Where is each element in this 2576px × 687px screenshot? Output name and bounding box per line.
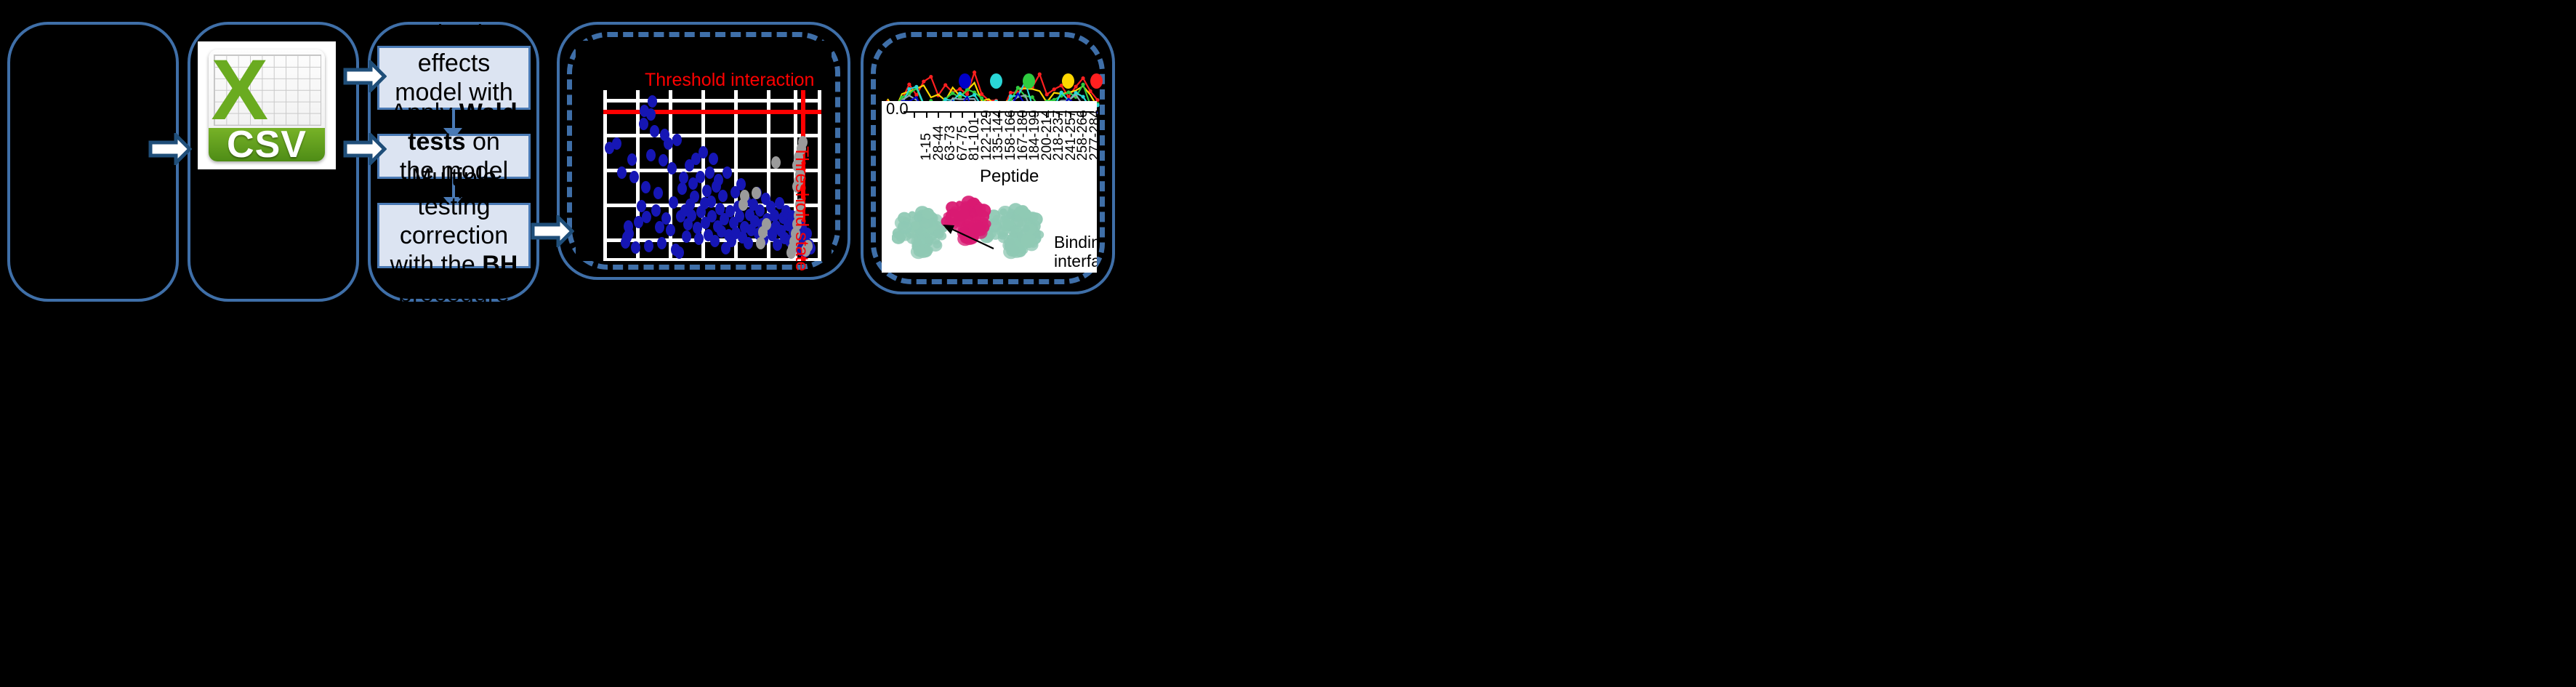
protein-surface-left <box>914 214 922 222</box>
grid-line-v <box>818 90 821 261</box>
scatter-point-significant <box>705 166 715 179</box>
x-axis-tick <box>926 113 927 118</box>
scatter-point-significant <box>723 166 732 179</box>
scatter-point-significant <box>642 211 651 223</box>
csv-x-letter: X <box>211 49 252 103</box>
scatter-plot-area <box>603 90 821 261</box>
scatter-point-significant <box>718 190 728 202</box>
x-axis-tick <box>962 113 963 118</box>
scatter-point-nonsignificant <box>762 218 771 230</box>
scatter-point-significant <box>679 172 688 184</box>
x-axis-label: Peptide <box>980 166 1039 187</box>
x-axis-tick <box>938 113 939 118</box>
step-bh-bold: BH <box>482 251 518 278</box>
scatter-point-significant <box>709 153 718 165</box>
step-reml-line1: Fit a linear mixed- <box>396 0 512 48</box>
scatter-point-significant <box>644 240 653 252</box>
csv-tile: X CSV <box>209 49 325 162</box>
scatter-point-significant <box>659 154 668 166</box>
grid-line-h <box>603 99 821 103</box>
scatter-point-significant <box>639 118 648 130</box>
x-axis-tick <box>974 113 975 118</box>
peptide-series-marker <box>914 85 918 89</box>
arrow-csv-to-model[interactable] <box>343 60 387 92</box>
peptide-series-marker <box>907 87 911 91</box>
peptide-series-marker <box>922 80 925 84</box>
step-bh-line3-prefix: with the <box>390 251 483 278</box>
protein-structure-render <box>892 187 1056 273</box>
x-tick-label: 277-284 <box>1087 110 1097 161</box>
protein-surface-left <box>916 244 930 258</box>
x-axis-tick <box>998 113 999 118</box>
scatter-point-nonsignificant <box>771 156 781 169</box>
ligand-surface <box>943 212 951 220</box>
x-axis-tick <box>1058 113 1060 118</box>
x-axis-tick <box>986 113 987 118</box>
protein-surface-left <box>917 228 926 236</box>
scatter-point-significant <box>690 190 699 203</box>
protein-surface-left <box>898 221 911 234</box>
scatter-point-significant <box>664 137 673 150</box>
x-axis-tick <box>914 113 915 118</box>
peptide-series-marker <box>907 83 911 87</box>
step-bh-line3-suffix: procedure <box>398 280 510 308</box>
step-bh-line1: Multiple testing <box>411 164 496 220</box>
scatter-point-significant <box>675 246 684 259</box>
csv-file-icon: X CSV <box>198 41 336 169</box>
legend-dot-green <box>1023 73 1035 89</box>
peptide-series-marker <box>965 92 969 96</box>
grid-line-h <box>603 134 821 137</box>
peptide-series-marker <box>1038 73 1042 76</box>
scatter-point-significant <box>744 237 753 249</box>
peptide-series-marker <box>951 91 954 95</box>
peptide-series-marker <box>980 96 983 100</box>
scatter-point-significant <box>710 235 720 247</box>
scatter-point-significant <box>736 178 746 190</box>
arrow-to-analysis[interactable] <box>343 133 387 165</box>
peptide-series-marker <box>958 92 962 95</box>
y-tick-label-zero: 0.0 <box>886 101 909 118</box>
peptide-series-marker <box>1067 90 1071 94</box>
protein-surface-right <box>1010 246 1020 255</box>
scatter-point-significant <box>612 137 621 150</box>
arrow-to-data[interactable] <box>148 133 192 165</box>
x-axis-tick <box>1070 113 1071 118</box>
step-wald-line1-suffix: on <box>466 128 500 156</box>
csv-label-band: CSV <box>209 128 325 161</box>
x-axis-tick <box>950 113 951 118</box>
peptide-series-marker <box>1074 85 1078 89</box>
legend-dot-yellow <box>1062 73 1074 89</box>
protein-surface-left <box>924 237 932 244</box>
scatter-point-significant <box>687 209 696 222</box>
scatter-point-significant <box>657 237 667 249</box>
step-wald-line1-prefix: Apply <box>390 99 459 126</box>
ligand-surface <box>954 206 970 221</box>
scatter-point-nonsignificant <box>752 187 761 199</box>
peptide-series-marker <box>1081 83 1084 87</box>
peptide-series-marker <box>1081 95 1084 98</box>
x-axis-tick <box>1010 113 1012 118</box>
peptide-series-marker <box>1009 95 1013 98</box>
ligand-surface <box>970 222 986 236</box>
scatter-point-significant <box>696 171 705 183</box>
structure-figure-card: 0.0 1-1528-4463-7367-7581-101122-129135-… <box>882 101 1097 273</box>
scatter-point-significant <box>641 181 651 193</box>
scatter-point-significant <box>651 204 661 217</box>
peptide-series-marker <box>1045 92 1049 96</box>
grid-line-h <box>603 258 821 261</box>
protein-surface-right <box>998 206 1013 220</box>
csv-extension-label: CSV <box>227 123 307 161</box>
peptide-series-marker <box>1009 91 1013 95</box>
scatter-point-significant <box>646 108 656 121</box>
scatter-point-significant <box>629 171 639 183</box>
scatter-point-significant <box>714 174 723 186</box>
peptide-series-marker <box>929 75 933 79</box>
peptide-series-marker <box>1081 76 1084 80</box>
peptide-series-marker <box>973 71 976 74</box>
scatter-point-significant <box>667 162 677 174</box>
step-bh-line2: correction <box>400 222 508 249</box>
x-axis-tick <box>1034 113 1036 118</box>
peptide-series-marker <box>1060 91 1063 95</box>
scatter-point-significant <box>646 149 656 161</box>
ligand-surface <box>967 198 977 207</box>
protein-surface-right <box>1019 208 1031 219</box>
scatter-point-significant <box>677 182 687 195</box>
threshold-state-label: Threshold state <box>791 146 812 271</box>
protein-surface-left <box>922 208 934 219</box>
scatter-chart: Threshold interaction Threshold state <box>576 41 832 261</box>
scatter-point-significant <box>650 125 659 137</box>
process-step-bh[interactable]: Multiple testing correction with the BH … <box>377 203 531 268</box>
peptide-series-marker <box>1052 87 1056 91</box>
x-axis-tick <box>1022 113 1023 118</box>
binding-label-line2: interface <box>1054 252 1097 270</box>
peptide-series-marker <box>1016 86 1020 89</box>
scatter-point-significant <box>699 146 708 158</box>
scatter-point-significant <box>666 224 675 236</box>
scatter-point-significant <box>653 187 663 199</box>
x-axis-tick <box>1082 113 1084 118</box>
binding-interface-label: Binding interface <box>1054 233 1097 271</box>
scatter-title: Threshold interaction <box>645 70 814 91</box>
scatter-point-significant <box>672 134 682 146</box>
scatter-point-significant <box>682 230 691 243</box>
scatter-point-nonsignificant <box>756 237 765 249</box>
protein-surface-left <box>937 231 946 240</box>
peptide-series-marker <box>943 83 947 87</box>
legend-dot-cyan <box>990 73 1002 89</box>
protein-surface-right <box>1021 233 1037 248</box>
scatter-point-significant <box>669 196 678 209</box>
binding-label-line1: Binding <box>1054 233 1097 252</box>
x-axis-tick <box>1046 113 1047 118</box>
legend-dot-blue <box>959 73 971 89</box>
scatter-point-significant <box>707 196 716 208</box>
threshold-line-horizontal <box>603 110 821 114</box>
scatter-point-significant <box>617 166 627 179</box>
protein-surface-right <box>1022 225 1030 232</box>
ligand-surface <box>976 204 991 217</box>
scatter-point-nonsignificant <box>740 190 749 202</box>
peptide-series-marker <box>973 93 976 97</box>
protein-surface-right <box>998 231 1007 239</box>
arrow-to-results[interactable] <box>531 215 574 247</box>
grid-line-v <box>603 90 607 261</box>
scatter-point-significant <box>648 95 657 108</box>
peptide-series-marker <box>1031 95 1034 99</box>
legend-dot-red <box>1090 73 1103 89</box>
